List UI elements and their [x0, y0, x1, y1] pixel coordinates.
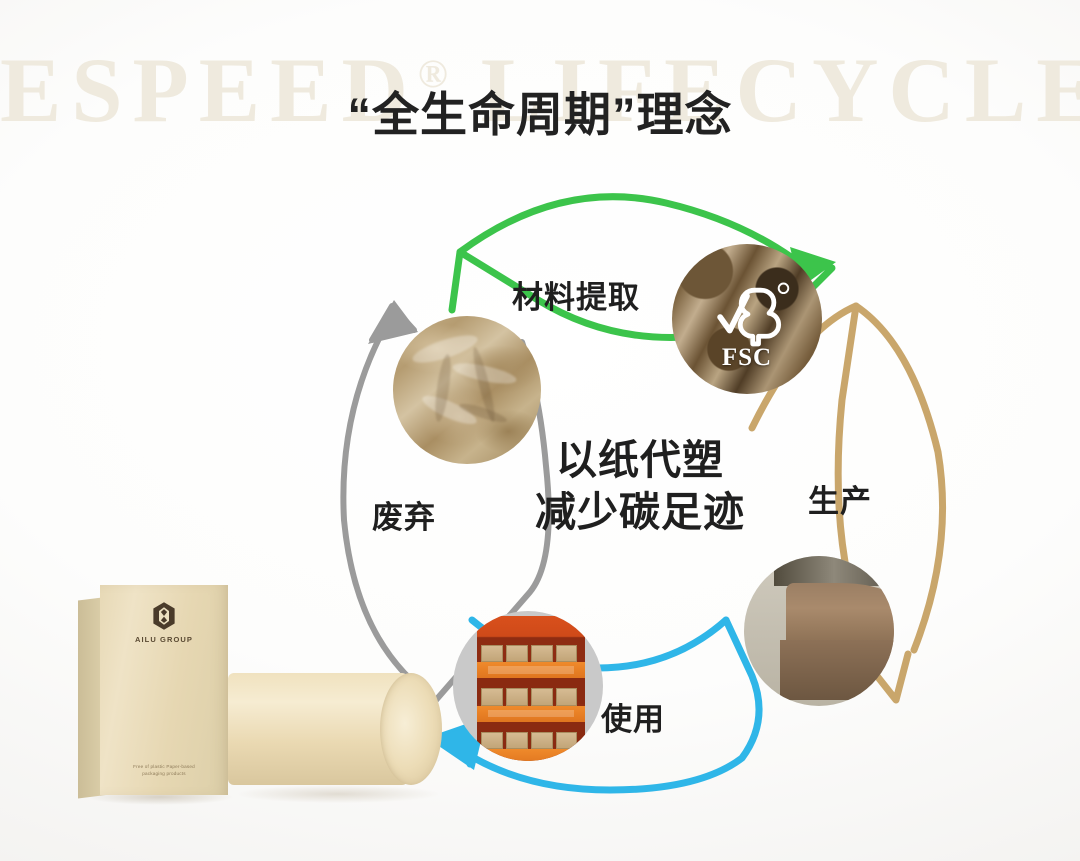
photo-material-extraction: FSC: [672, 244, 822, 394]
photo-production: [744, 556, 894, 706]
stage-label-production: 生产: [808, 476, 872, 521]
bag-front-panel: AILU GROUP Free of plastic Paper-based p…: [100, 585, 228, 795]
product-paper-bag: AILU GROUP Free of plastic Paper-based p…: [78, 585, 228, 803]
bag-brand-text: AILU GROUP: [100, 635, 228, 644]
product-paper-roll: [228, 673, 443, 793]
center-slogan-line2: 减少碳足迹: [505, 486, 775, 538]
photo-use: [453, 611, 603, 761]
roll-end-cap: [380, 673, 442, 785]
bag-fineprint: Free of plastic Paper-based packaging pr…: [100, 763, 228, 777]
stage-label-disposal: 废弃: [372, 492, 436, 537]
lifecycle-infographic: ESPEED® LIFECYCLE “全生命周期”理念: [0, 0, 1080, 861]
ailu-hexagon-logo-icon: [151, 601, 177, 631]
stage-label-material-extraction: 材料提取: [512, 272, 640, 317]
bag-fineprint-line2: packaging products: [100, 770, 228, 777]
center-slogan-line1: 以纸代塑: [505, 434, 775, 486]
bag-fineprint-line1: Free of plastic Paper-based: [100, 763, 228, 770]
fsc-label: FSC: [672, 344, 822, 372]
center-slogan: 以纸代塑 减少碳足迹: [505, 434, 775, 539]
stage-label-use: 使用: [601, 694, 665, 739]
